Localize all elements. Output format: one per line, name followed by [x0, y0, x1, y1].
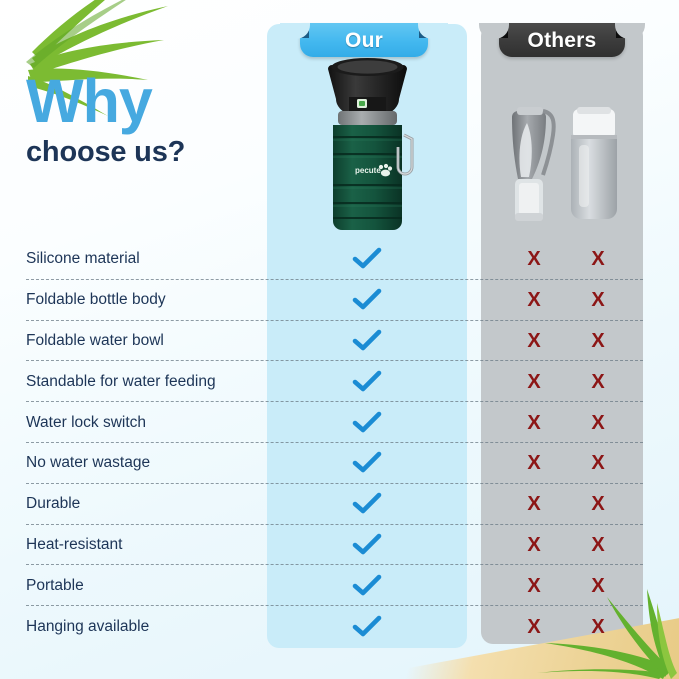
cross-icon: X	[591, 453, 604, 473]
feature-label: Durable	[26, 495, 80, 513]
svg-text:pecute: pecute	[355, 166, 381, 175]
our-mark	[347, 328, 387, 354]
table-row: Foldable bottle bodyXX	[0, 280, 679, 321]
check-icon	[352, 411, 382, 435]
other1-mark: X	[514, 573, 554, 599]
headline-line-2: choose us?	[26, 137, 266, 169]
check-icon	[352, 492, 382, 516]
other2-mark: X	[578, 246, 618, 272]
page-title: Why choose us?	[26, 72, 266, 168]
feature-label: Water lock switch	[26, 414, 146, 432]
cross-icon: X	[527, 617, 540, 637]
other2-mark: X	[578, 614, 618, 640]
table-row: PortableXX	[0, 565, 679, 606]
check-icon	[352, 247, 382, 271]
table-row: Standable for water feedingXX	[0, 361, 679, 402]
cross-icon: X	[591, 331, 604, 351]
other1-mark: X	[514, 614, 554, 640]
other1-mark: X	[514, 328, 554, 354]
table-row: Hanging availableXX	[0, 606, 679, 647]
others-column-header: Others	[499, 23, 625, 57]
feature-label: Heat-resistant	[26, 536, 122, 554]
other-products-image	[493, 105, 633, 227]
comparison-infographic: Why choose us? Our Others	[0, 0, 679, 679]
others-column-label: Others	[528, 30, 597, 51]
other2-mark: X	[578, 410, 618, 436]
check-icon	[352, 574, 382, 598]
feature-label: Standable for water feeding	[26, 373, 216, 391]
our-column-label: Our	[345, 30, 383, 51]
cross-icon: X	[591, 576, 604, 596]
check-icon	[352, 288, 382, 312]
cross-icon: X	[591, 290, 604, 310]
check-icon	[352, 370, 382, 394]
cross-icon: X	[591, 372, 604, 392]
cross-icon: X	[591, 249, 604, 269]
our-product-image: pecute	[305, 57, 430, 237]
our-mark	[347, 246, 387, 272]
table-row: No water wastageXX	[0, 443, 679, 484]
our-mark	[347, 491, 387, 517]
other1-mark: X	[514, 491, 554, 517]
check-icon	[352, 533, 382, 557]
our-column-header: Our	[300, 23, 428, 57]
check-icon	[352, 329, 382, 353]
our-mark	[347, 410, 387, 436]
cross-icon: X	[591, 494, 604, 514]
cross-icon: X	[527, 249, 540, 269]
cross-icon: X	[527, 494, 540, 514]
cross-icon: X	[527, 372, 540, 392]
ribbon-plate: Others	[499, 23, 625, 57]
table-row: DurableXX	[0, 484, 679, 525]
other2-mark: X	[578, 532, 618, 558]
cross-icon: X	[527, 331, 540, 351]
our-mark	[347, 450, 387, 476]
other-product-2	[571, 107, 617, 219]
cross-icon: X	[591, 535, 604, 555]
check-icon	[352, 451, 382, 475]
our-mark	[347, 287, 387, 313]
other1-mark: X	[514, 246, 554, 272]
feature-label: Hanging available	[26, 618, 149, 636]
feature-label: Foldable bottle body	[26, 291, 166, 309]
cross-icon: X	[527, 290, 540, 310]
check-icon	[352, 615, 382, 639]
other2-mark: X	[578, 450, 618, 476]
feature-label: Silicone material	[26, 250, 140, 268]
cross-icon: X	[527, 413, 540, 433]
cross-icon: X	[527, 453, 540, 473]
cross-icon: X	[527, 535, 540, 555]
cross-icon: X	[591, 617, 604, 637]
other1-mark: X	[514, 369, 554, 395]
other1-mark: X	[514, 410, 554, 436]
feature-label: No water wastage	[26, 454, 150, 472]
our-mark	[347, 573, 387, 599]
other2-mark: X	[578, 573, 618, 599]
other1-mark: X	[514, 532, 554, 558]
cross-icon: X	[527, 576, 540, 596]
other-product-1	[512, 107, 554, 221]
headline-line-1: Why	[26, 72, 266, 131]
our-mark	[347, 532, 387, 558]
our-mark	[347, 614, 387, 640]
our-mark	[347, 369, 387, 395]
other1-mark: X	[514, 287, 554, 313]
other2-mark: X	[578, 491, 618, 517]
cross-icon: X	[591, 413, 604, 433]
feature-label: Foldable water bowl	[26, 332, 164, 350]
table-row: Silicone materialXX	[0, 239, 679, 280]
table-row: Foldable water bowlXX	[0, 321, 679, 362]
table-row: Water lock switchXX	[0, 402, 679, 443]
other2-mark: X	[578, 328, 618, 354]
ribbon-plate: Our	[300, 23, 428, 57]
table-row: Heat-resistantXX	[0, 525, 679, 566]
feature-label: Portable	[26, 577, 84, 595]
other2-mark: X	[578, 369, 618, 395]
comparison-table: Silicone materialXXFoldable bottle bodyX…	[0, 239, 679, 647]
other1-mark: X	[514, 450, 554, 476]
other2-mark: X	[578, 287, 618, 313]
